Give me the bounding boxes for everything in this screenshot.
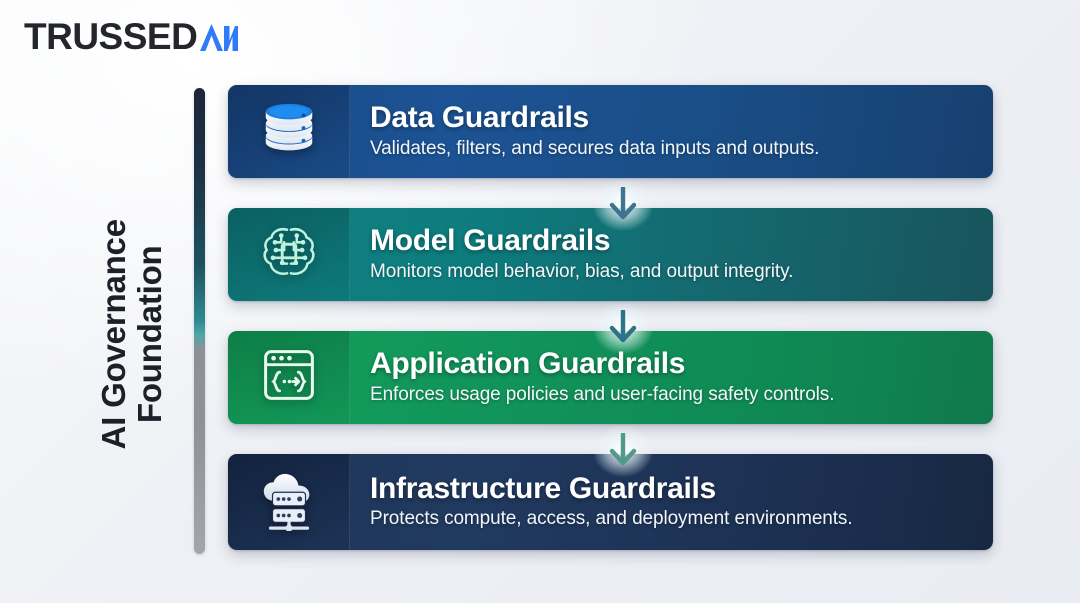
card-data-guardrails[interactable]: Data Guardrails Validates, filters, and … xyxy=(228,85,993,178)
guardrails-stack: Data Guardrails Validates, filters, and … xyxy=(228,85,993,555)
card-title: Data Guardrails xyxy=(370,101,975,135)
arrow-down-icon xyxy=(608,187,638,223)
card-icon-panel xyxy=(228,331,350,424)
code-window-icon xyxy=(259,346,319,409)
card-text: Application Guardrails Enforces usage po… xyxy=(350,331,993,424)
card-icon-panel xyxy=(228,454,350,550)
arrow-model-to-application xyxy=(600,305,646,351)
card-text: Infrastructure Guardrails Protects compu… xyxy=(350,454,993,550)
brand-wordmark: TRUSSED xyxy=(24,18,197,55)
card-text: Data Guardrails Validates, filters, and … xyxy=(350,85,993,178)
section-vertical-label: AI Governance Foundation xyxy=(78,108,186,560)
brain-circuit-icon xyxy=(258,221,320,288)
arrow-down-icon xyxy=(608,310,638,346)
arrow-down-icon xyxy=(608,433,638,469)
database-icon xyxy=(258,98,320,165)
brand-logo: TRUSSED xyxy=(24,14,240,58)
card-title: Model Guardrails xyxy=(370,224,975,258)
arrow-application-to-infrastructure xyxy=(600,428,646,474)
section-label-line-2: Foundation xyxy=(132,219,168,449)
arrow-data-to-model xyxy=(600,182,646,228)
gradient-progress-spine xyxy=(194,88,205,554)
card-text: Model Guardrails Monitors model behavior… xyxy=(350,208,993,301)
card-title: Infrastructure Guardrails xyxy=(370,472,975,506)
card-icon-panel xyxy=(228,208,350,301)
card-subtitle: Monitors model behavior, bias, and outpu… xyxy=(370,260,975,285)
card-subtitle: Protects compute, access, and deployment… xyxy=(370,507,975,532)
cloud-server-icon xyxy=(257,469,321,536)
card-subtitle: Enforces usage policies and user-facing … xyxy=(370,383,975,408)
card-title: Application Guardrails xyxy=(370,347,975,381)
ai-logo-mark-icon xyxy=(198,18,240,54)
card-icon-panel xyxy=(228,85,350,178)
card-subtitle: Validates, filters, and secures data inp… xyxy=(370,137,975,162)
section-label-line-1: AI Governance xyxy=(95,219,132,449)
